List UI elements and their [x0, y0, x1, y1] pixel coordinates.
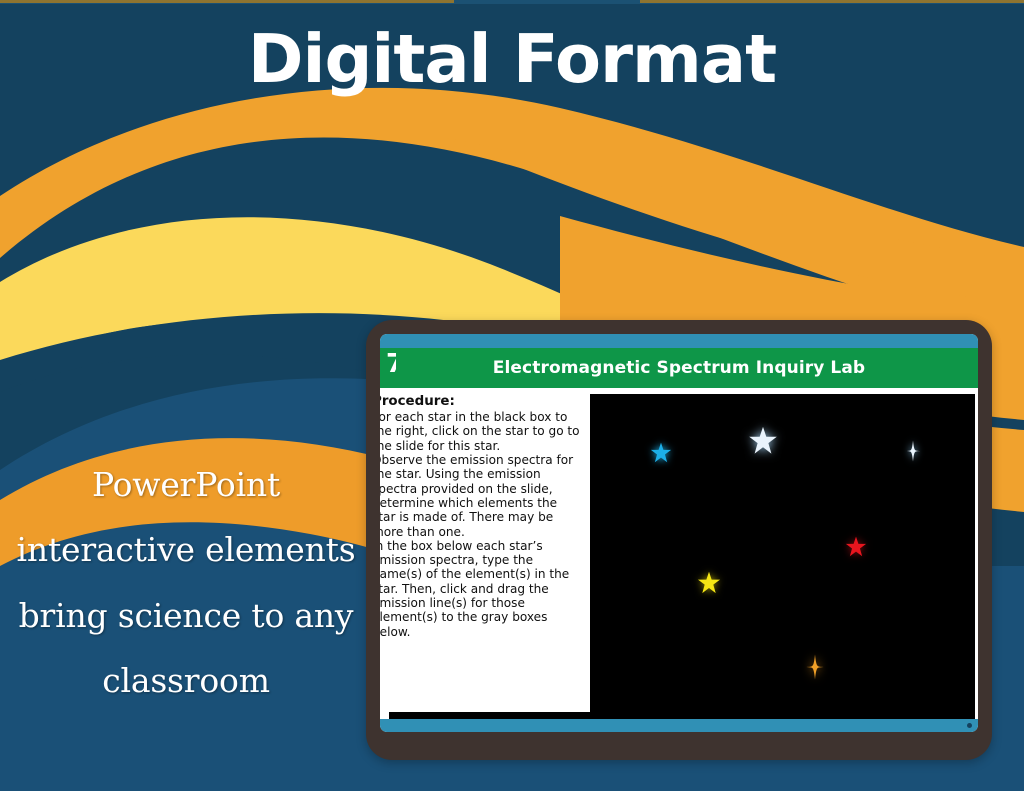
scroll-sliver [389, 712, 649, 719]
top-edge-strip-gold-left [0, 0, 454, 3]
slide-top-bar [380, 334, 978, 348]
slide-header-title: Electromagnetic Spectrum Inquiry Lab [493, 358, 865, 378]
procedure-heading: Procedure: [380, 394, 581, 410]
red-star[interactable] [845, 536, 867, 558]
slide-body: Procedure: For each star in the black bo… [380, 388, 978, 719]
page-title: Digital Format [0, 26, 1024, 93]
procedure-paragraph-2: Observe the emission spectra for the sta… [380, 453, 581, 539]
procedure-pane: Procedure: For each star in the black bo… [380, 394, 581, 719]
yellow-star[interactable] [697, 571, 721, 595]
white-star[interactable] [748, 426, 778, 456]
orange-sparkle-star[interactable] [802, 654, 828, 680]
starfield-pane [581, 394, 978, 719]
cyan-star[interactable] [650, 442, 672, 464]
tablet-device: 7 Electromagnetic Spectrum Inquiry Lab P… [366, 320, 992, 760]
slide-bottom-bar [380, 719, 978, 732]
slide-corner-mark: 7 [386, 351, 396, 377]
home-dot-icon [967, 723, 972, 728]
presentation-slide: Digital Format PowerPoint interactive el… [0, 0, 1024, 791]
white-sparkle-star[interactable] [902, 440, 924, 462]
caption-text: PowerPoint interactive elements bring sc… [16, 452, 356, 713]
slide-header-bar: 7 Electromagnetic Spectrum Inquiry Lab [380, 348, 978, 388]
tablet-screen: 7 Electromagnetic Spectrum Inquiry Lab P… [380, 334, 978, 732]
top-edge-strip-gold-right [640, 0, 1024, 3]
procedure-paragraph-3: In the box below each star’s emission sp… [380, 539, 581, 639]
starfield[interactable] [590, 394, 975, 719]
procedure-paragraph-1: For each star in the black box to the ri… [380, 410, 581, 453]
